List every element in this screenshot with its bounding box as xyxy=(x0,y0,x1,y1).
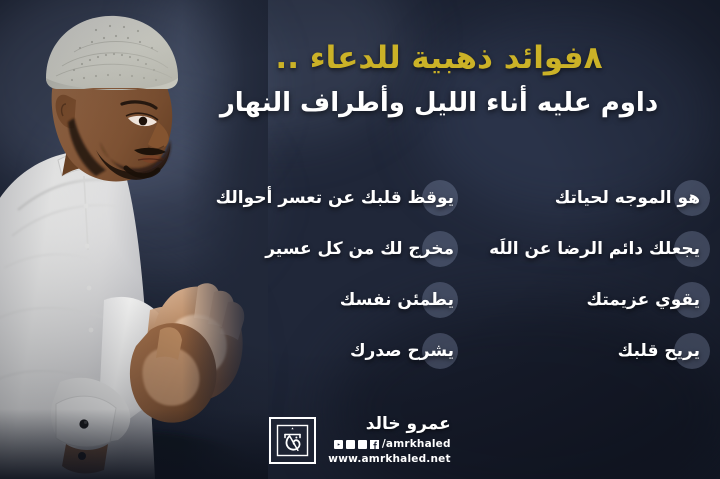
amrkhaled-logo-icon[interactable] xyxy=(269,417,316,464)
benefit-text-3: يجعلك دائم الرضا عن اللَه xyxy=(489,239,700,259)
benefit-item-3: يجعلك دائم الرضا عن اللَه xyxy=(454,239,706,259)
brand-name: عمرو خالد xyxy=(328,415,450,434)
benefit-row-2: يجعلك دائم الرضا عن اللَه مخرج لك من كل … xyxy=(150,223,706,274)
benefit-text-5: يقوي عزيمتك xyxy=(586,290,700,310)
benefit-row-4: يريح قلبك يشرح صدرك xyxy=(150,325,706,376)
benefit-item-8: يشرح صدرك xyxy=(150,341,454,361)
headline-block: ٨فوائد ذهبية للدعاء .. داوم عليه أناء ال… xyxy=(180,40,698,119)
benefit-item-2: يوقظ قلبك عن تعسر أحوالك xyxy=(150,188,454,208)
benefit-text-1: هو الموجه لحياتك xyxy=(555,188,700,208)
benefit-text-4: مخرج لك من كل عسير xyxy=(265,239,454,259)
benefit-item-7: يريح قلبك xyxy=(454,341,706,361)
facebook-icon[interactable] xyxy=(370,440,379,449)
brand-website-url[interactable]: www.amrkhaled.net xyxy=(328,453,450,465)
youtube-icon[interactable] xyxy=(334,440,343,449)
instagram-icon[interactable] xyxy=(346,440,355,449)
twitter-icon[interactable] xyxy=(358,440,367,449)
brand-text-block: عمرو خالد /amrkhaled www.amrkhaled.net xyxy=(328,415,450,465)
benefits-list: هو الموجه لحياتك يوقظ قلبك عن تعسر أحوال… xyxy=(150,172,706,376)
benefit-text-8: يشرح صدرك xyxy=(350,341,454,361)
benefit-row-3: يقوي عزيمتك يطمئن نفسك xyxy=(150,274,706,325)
benefit-item-5: يقوي عزيمتك xyxy=(454,290,706,310)
headline-line-1: ٨فوائد ذهبية للدعاء .. xyxy=(180,40,698,78)
benefit-text-7: يريح قلبك xyxy=(618,341,700,361)
benefit-item-1: هو الموجه لحياتك xyxy=(454,188,706,208)
benefit-item-4: مخرج لك من كل عسير xyxy=(150,239,454,259)
brand-footer: عمرو خالد /amrkhaled www.amrkhaled.net xyxy=(0,415,720,465)
benefit-item-6: يطمئن نفسك xyxy=(150,290,454,310)
brand-handle[interactable]: /amrkhaled xyxy=(382,438,451,450)
benefit-text-2: يوقظ قلبك عن تعسر أحوالك xyxy=(216,188,454,208)
headline-line-2: داوم عليه أناء الليل وأطراف النهار xyxy=(180,87,698,120)
brand-handle-row: /amrkhaled xyxy=(328,438,450,450)
benefit-text-6: يطمئن نفسك xyxy=(340,290,454,310)
benefit-row-1: هو الموجه لحياتك يوقظ قلبك عن تعسر أحوال… xyxy=(150,172,706,223)
poster-canvas: ٨فوائد ذهبية للدعاء .. داوم عليه أناء ال… xyxy=(0,0,720,479)
